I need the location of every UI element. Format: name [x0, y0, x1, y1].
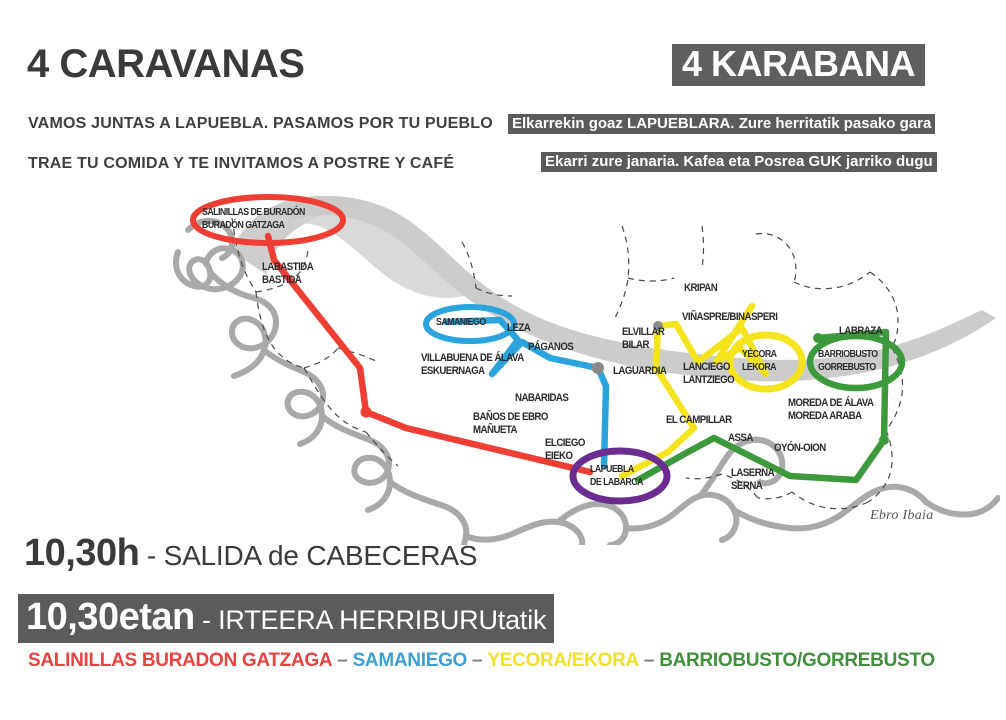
subtitle-basque-line2: Ekarri zure janaria. Kafea eta Posrea GU… — [541, 152, 937, 172]
subtitle-spanish-line2: TRAE TU COMIDA Y TE INVITAMOS A POSTRE Y… — [28, 155, 454, 173]
route-map: SALINILLAS DE BURADÓN BURADÓN GATZAGA SA… — [170, 190, 1000, 545]
departure-time-spanish: 10,30h - SALIDA de CABECERAS — [24, 532, 477, 575]
legend-separator: – — [467, 650, 487, 671]
map-graphic — [170, 190, 1000, 545]
page-title-basque: 4 KARABANA — [682, 46, 915, 82]
departure-time-spanish-text: - SALIDA de CABECERAS — [139, 540, 477, 571]
departure-time-spanish-value: 10,30h — [24, 532, 139, 574]
legend-separator: – — [332, 650, 352, 671]
page-title-basque-banner: 4 KARABANA — [672, 44, 925, 86]
legend-item-0: SALINILLAS BURADON GATZAGA — [28, 650, 332, 671]
poster-root: 4 CARAVANAS 4 KARABANA VAMOS JUNTAS A LA… — [0, 0, 1006, 720]
page-title-spanish: 4 CARAVANAS — [27, 42, 305, 87]
departure-time-basque-banner: 10,30etan - IRTEERA HERRIBURUtatik — [18, 594, 554, 643]
subtitle-spanish-line1: VAMOS JUNTAS A LAPUEBLA. PASAMOS POR TU … — [28, 115, 493, 133]
departure-time-basque-value: 10,30etan — [26, 596, 195, 638]
legend-item-2: YECORA/EKORA — [487, 650, 639, 671]
route-legend: SALINILLAS BURADON GATZAGA–SAMANIEGO–YEC… — [28, 650, 935, 672]
legend-item-3: BARRIOBUSTO/GORREBUSTO — [659, 650, 935, 671]
river-label-ebro: Ebro Ibaia — [870, 508, 934, 524]
subtitle-basque-line1: Elkarrekin goaz LAPUEBLARA. Zure herrita… — [508, 114, 935, 134]
departure-time-basque-text: - IRTEERA HERRIBURUtatik — [195, 605, 547, 635]
legend-separator: – — [639, 650, 659, 671]
legend-item-1: SAMANIEGO — [353, 650, 467, 671]
